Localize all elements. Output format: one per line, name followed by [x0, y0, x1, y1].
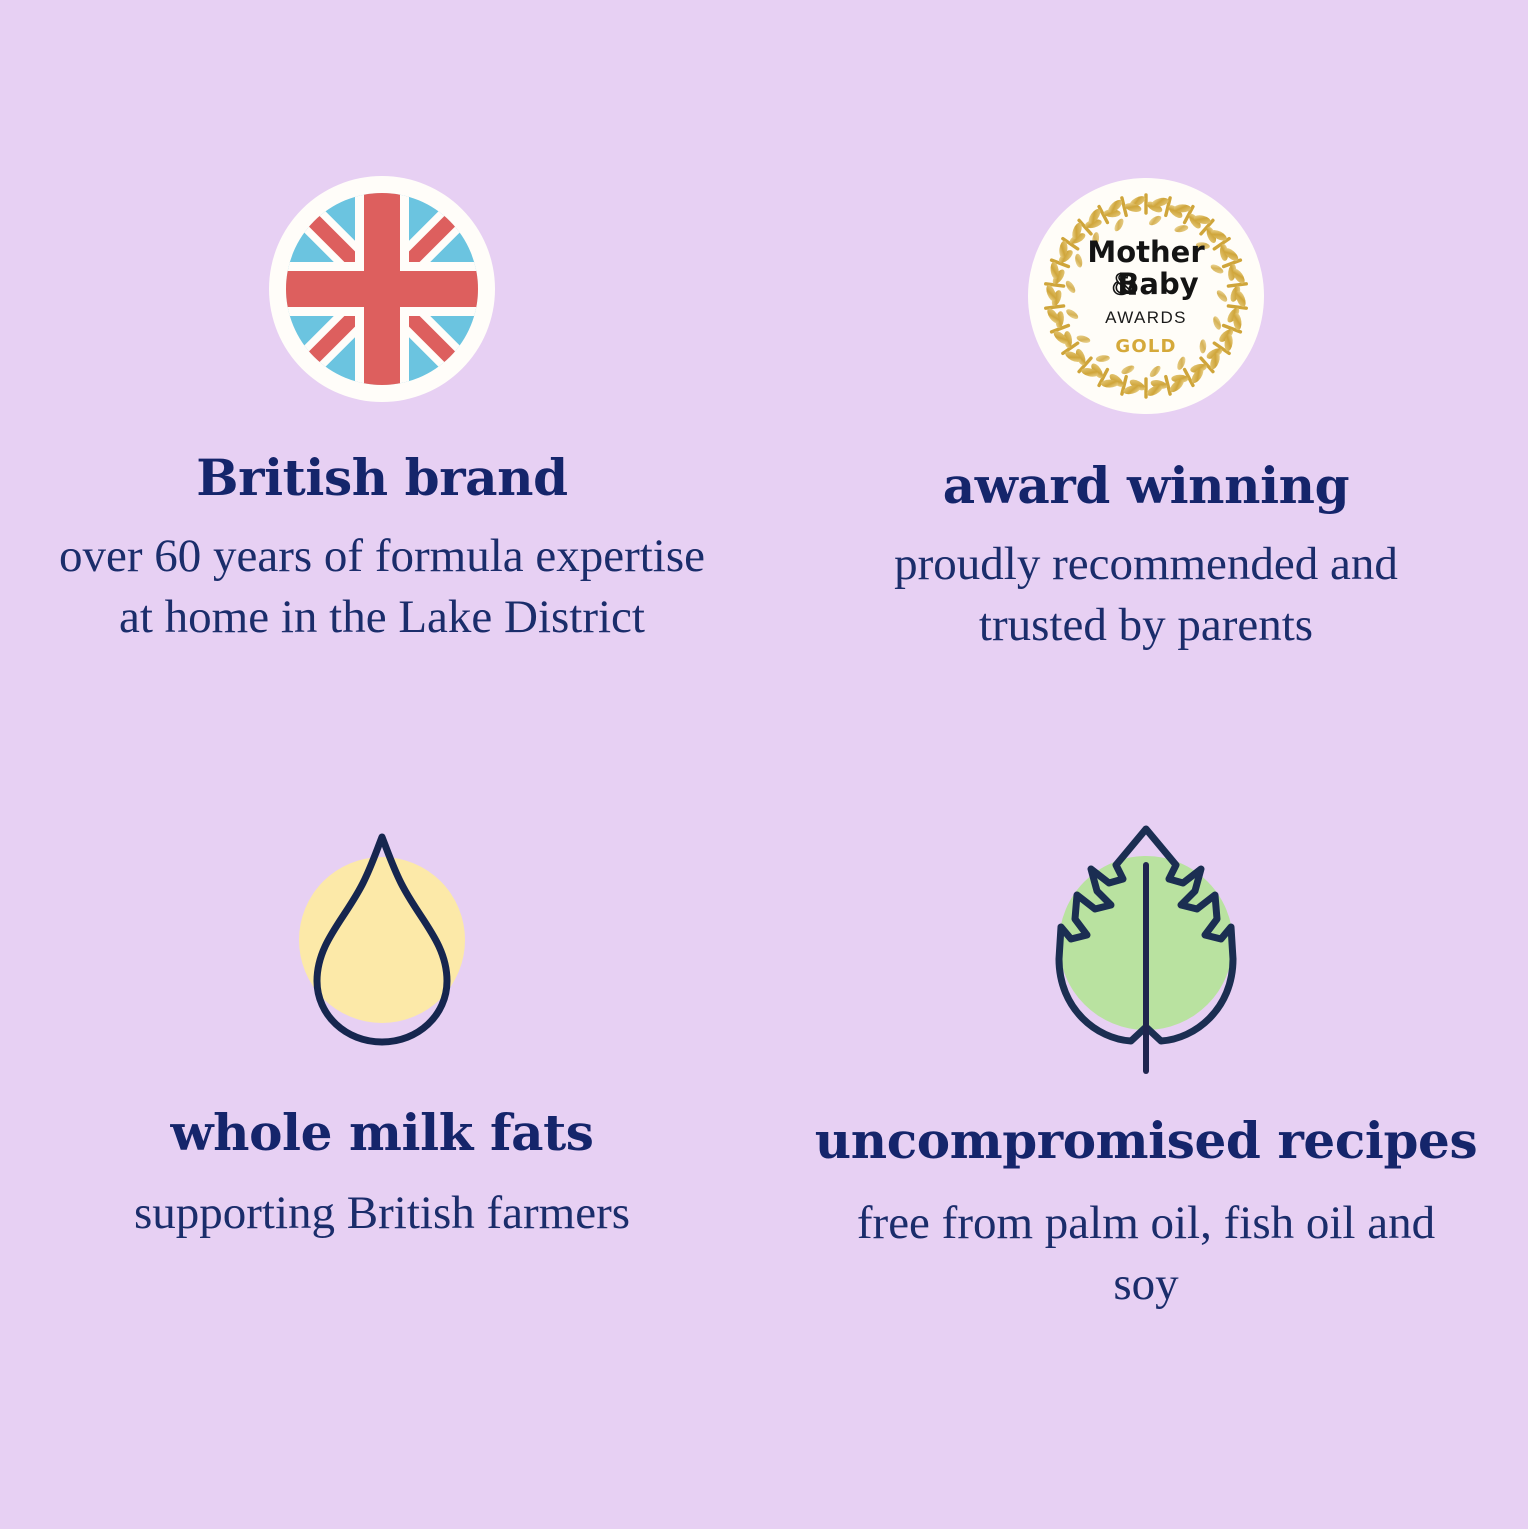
feature-body: over 60 years of formula expertise at ho…: [52, 526, 712, 648]
badge-brand-line-1: Mother: [1087, 235, 1205, 269]
mother-and-baby-awards-gold-badge-icon: Mother & Baby AWARDS GOLD: [1028, 178, 1264, 414]
feature-headline: whole milk fats: [170, 1105, 593, 1161]
feature-headline: award winning: [943, 458, 1349, 514]
leaf-icon: [1031, 813, 1261, 1085]
feature-body: free from palm oil, fish oil and soy: [836, 1193, 1456, 1315]
feature-tile-whole-milk-fats: whole milk fats supporting British farme…: [0, 765, 764, 1529]
feature-tile-british-brand: British brand over 60 years of formula e…: [0, 0, 764, 765]
feature-headline: British brand: [196, 450, 567, 506]
feature-grid-panel: British brand over 60 years of formula e…: [0, 0, 1528, 1529]
badge-awards-label: AWARDS: [1105, 308, 1187, 327]
milk-droplet-icon: [267, 815, 497, 1065]
union-jack-flag-icon: [269, 176, 495, 402]
feature-tile-award-winning: Mother & Baby AWARDS GOLD award winning …: [764, 0, 1528, 765]
feature-body: supporting British farmers: [134, 1183, 630, 1244]
badge-tier-label: GOLD: [1115, 336, 1176, 357]
feature-body: proudly recommended and trusted by paren…: [836, 534, 1456, 656]
feature-headline: uncompromised recipes: [815, 1113, 1477, 1169]
feature-grid: British brand over 60 years of formula e…: [0, 0, 1528, 1529]
badge-brand-line-2: Baby: [1117, 267, 1198, 301]
feature-tile-uncompromised-recipes: uncompromised recipes free from palm oil…: [764, 765, 1528, 1529]
